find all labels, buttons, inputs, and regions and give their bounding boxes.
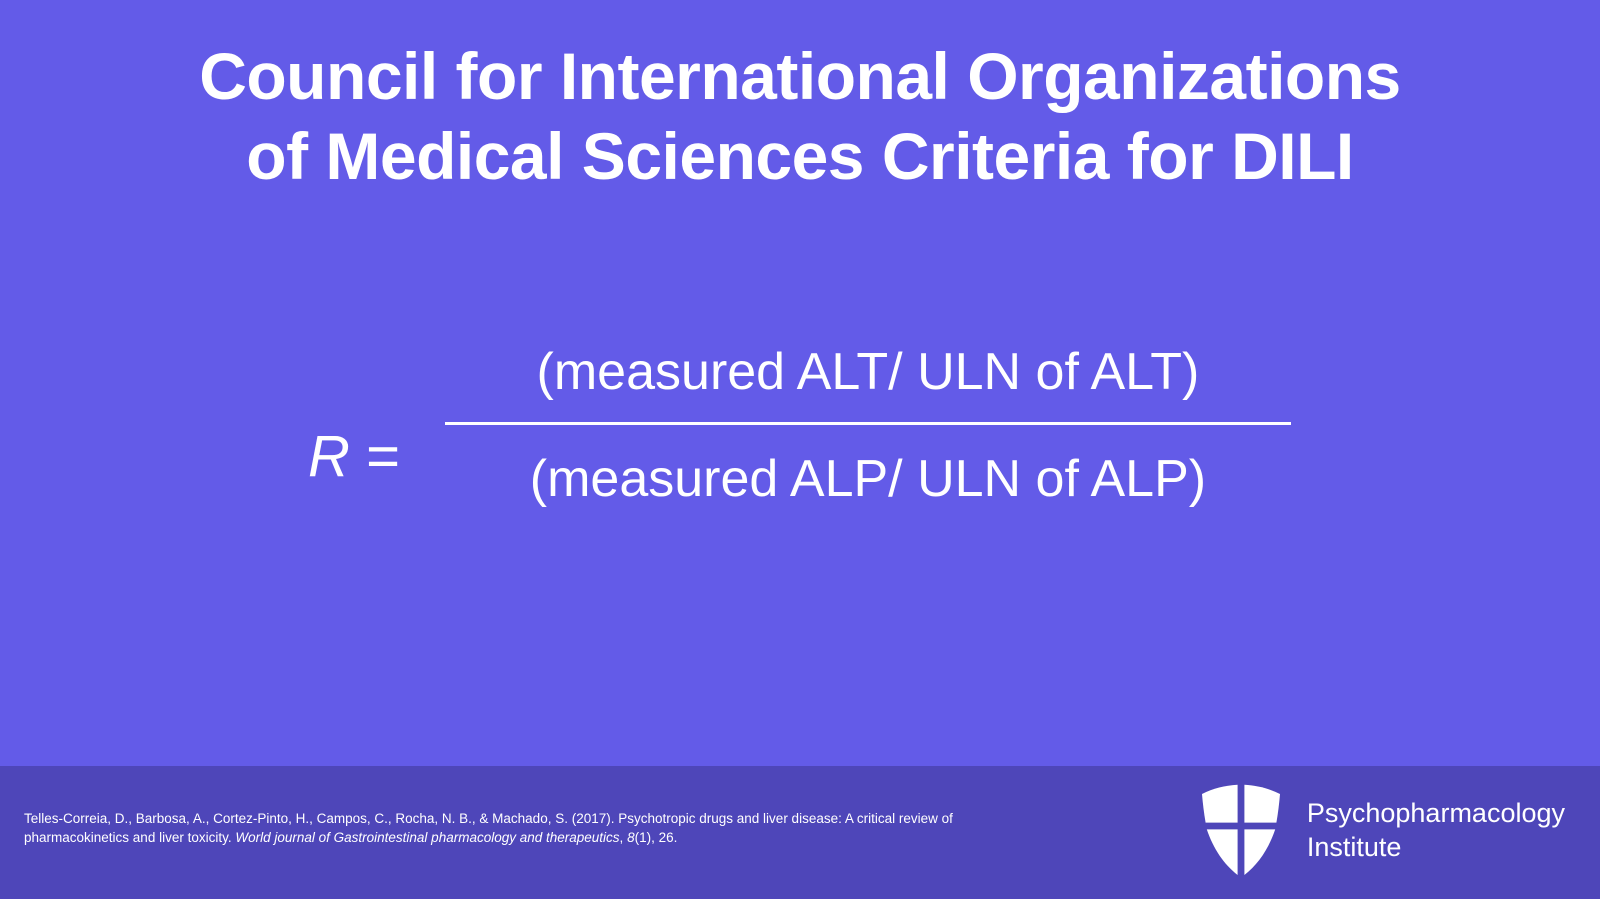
fraction-bar	[445, 422, 1291, 425]
formula-left-hand-side: R =	[308, 366, 400, 486]
citation-part-3: (1), 26.	[635, 830, 678, 845]
title-line-2: of Medical Sciences Criteria for DILI	[0, 116, 1600, 196]
footer-bar: Telles-Correia, D., Barbosa, A., Cortez-…	[0, 766, 1600, 899]
formula-equals-sign: =	[366, 424, 400, 489]
shield-logo-icon	[1199, 784, 1283, 876]
formula-denominator: (measured ALP/ ULN of ALP)	[530, 447, 1206, 511]
citation-volume: 8	[627, 830, 635, 845]
brand-logo-text: Psychopharmacology Institute	[1307, 796, 1565, 864]
formula-fraction: (measured ALT/ ULN of ALT) (measured ALP…	[444, 340, 1292, 511]
slide: Council for International Organizations …	[0, 0, 1600, 899]
brand-logo: Psychopharmacology Institute	[1199, 784, 1565, 876]
citation-text: Telles-Correia, D., Barbosa, A., Cortez-…	[24, 809, 954, 847]
citation-part-2: ,	[620, 830, 628, 845]
title-line-1: Council for International Organizations	[0, 36, 1600, 116]
formula-block: R = (measured ALT/ ULN of ALT) (measured…	[0, 340, 1600, 511]
formula-numerator: (measured ALT/ ULN of ALT)	[537, 340, 1200, 404]
brand-name-line-1: Psychopharmacology	[1307, 796, 1565, 830]
brand-name-line-2: Institute	[1307, 830, 1565, 864]
citation-journal-name: World journal of Gastrointestinal pharma…	[235, 830, 619, 845]
formula-variable: R	[308, 424, 350, 489]
page-title: Council for International Organizations …	[0, 36, 1600, 196]
